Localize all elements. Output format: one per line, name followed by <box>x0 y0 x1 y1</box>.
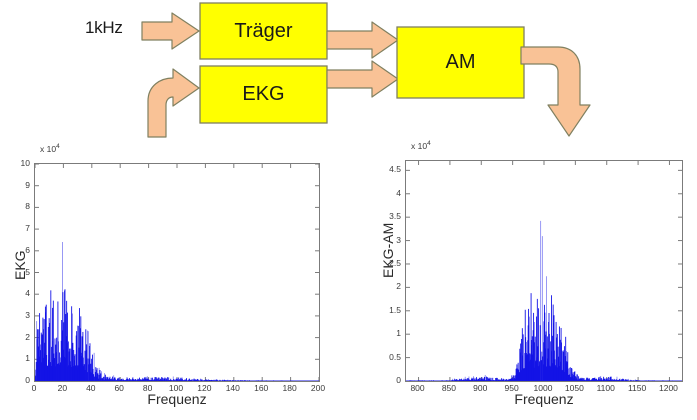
arrow-curved-into-ekg <box>148 69 199 137</box>
plot-area-ekg-am <box>405 160 683 382</box>
y-tick-label: 3 <box>373 235 401 245</box>
arrow-am-output <box>521 47 590 136</box>
x-tick-label: 60 <box>114 383 123 393</box>
arrow-traeger-to-am <box>327 22 398 58</box>
y-tick-label: 8 <box>2 201 30 211</box>
box-right-canvas <box>406 161 682 381</box>
y-axis-title-right: EKG-AM <box>380 223 396 278</box>
x-tick-label: 800 <box>410 383 424 393</box>
box-left-canvas <box>35 164 319 381</box>
y-tick-label: 1 <box>2 353 30 363</box>
x-tick-label: 850 <box>442 383 456 393</box>
y-tick-label: 2 <box>373 281 401 291</box>
x-axis-title-left: Frequenz <box>34 391 320 407</box>
x-tick-label: 180 <box>283 383 297 393</box>
block-diagram: 1kHz Träger EKG AM <box>0 0 697 140</box>
x-tick-label: 100 <box>169 383 183 393</box>
y-tick-label: 4.5 <box>373 164 401 174</box>
x-tick-label: 1000 <box>534 383 553 393</box>
y-tick-label: 3.5 <box>373 211 401 221</box>
arrow-ekg-to-am <box>327 61 398 97</box>
x-tick-label: 1050 <box>565 383 584 393</box>
y-tick-label: 0 <box>373 375 401 385</box>
x-tick-label: 200 <box>311 383 325 393</box>
y-tick-label: 5 <box>2 267 30 277</box>
chart-ekg-spectrum: x 104 Frequenz EKG 020406080100120140160… <box>0 135 350 420</box>
y-tick-label: 2 <box>2 332 30 342</box>
y-tick-label: 7 <box>2 223 30 233</box>
x-tick-label: 120 <box>197 383 211 393</box>
x-tick-label: 1200 <box>659 383 678 393</box>
y-tick-label: 1 <box>373 328 401 338</box>
x-tick-label: 1100 <box>597 383 615 393</box>
x-tick-label: 0 <box>32 383 37 393</box>
y-exponent-left: x 104 <box>40 143 60 154</box>
x-tick-label: 20 <box>58 383 67 393</box>
y-tick-label: 10 <box>2 158 30 168</box>
x-tick-label: 140 <box>226 383 240 393</box>
y-tick-label: 4 <box>2 288 30 298</box>
x-tick-label: 900 <box>473 383 487 393</box>
block-am-label: AM <box>397 27 524 98</box>
x-tick-label: 160 <box>254 383 268 393</box>
y-tick-label: 0 <box>2 375 30 385</box>
block-traeger-label: Träger <box>200 3 327 59</box>
x-tick-label: 40 <box>86 383 95 393</box>
y-tick-label: 0.5 <box>373 352 401 362</box>
y-tick-label: 9 <box>2 180 30 190</box>
x-tick-label: 950 <box>505 383 519 393</box>
arrow-input-to-traeger <box>142 13 199 49</box>
y-tick-label: 2.5 <box>373 258 401 268</box>
x-tick-label: 80 <box>143 383 152 393</box>
x-axis-title-right: Frequenz <box>405 391 683 407</box>
y-tick-label: 1.5 <box>373 305 401 315</box>
x-tick-label: 1150 <box>628 383 646 393</box>
y-tick-label: 3 <box>2 310 30 320</box>
y-exponent-right: x 104 <box>411 140 431 151</box>
y-tick-label: 6 <box>2 245 30 255</box>
diagram-input-label: 1kHz <box>85 18 123 38</box>
y-tick-label: 4 <box>373 188 401 198</box>
plot-area-ekg <box>34 163 320 382</box>
block-ekg-label: EKG <box>200 66 327 123</box>
chart-ekg-am-spectrum: x 104 Frequenz EKG-AM 800850900950100010… <box>350 135 697 420</box>
